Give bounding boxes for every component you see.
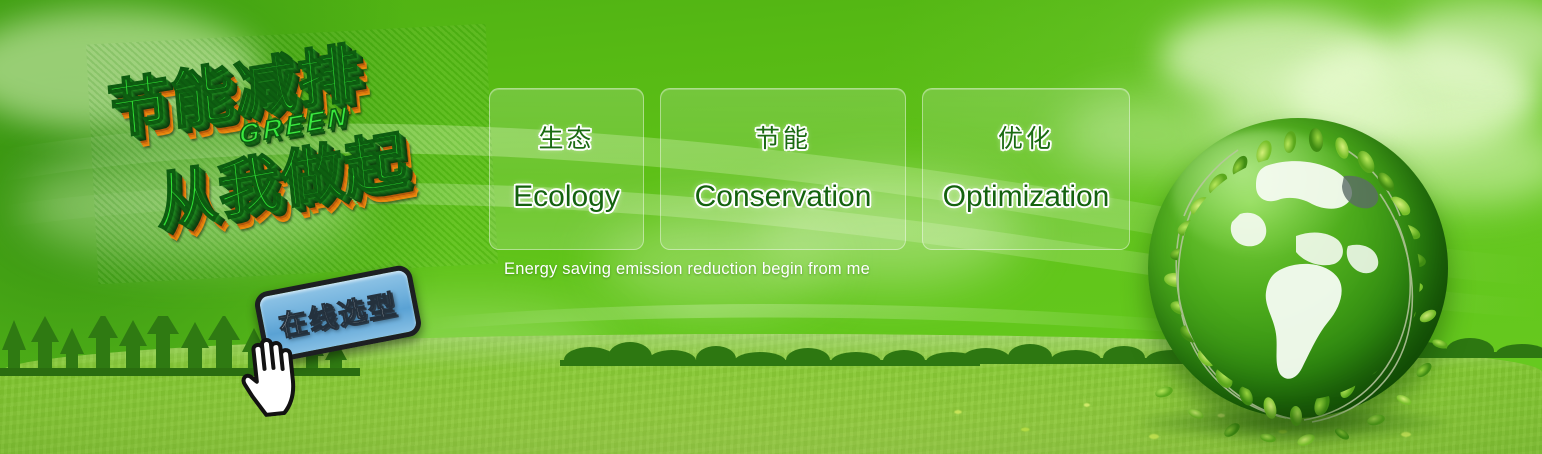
green-energy-banner: 节能减排 GREEN 从我做起 在线选型 — [0, 0, 1542, 454]
card-optimization-en: Optimization — [943, 182, 1110, 212]
card-ecology[interactable]: 生态 Ecology — [489, 88, 644, 250]
globe-ground-shadow — [1138, 406, 1448, 440]
card-optimization-cn: 优化 — [998, 127, 1054, 152]
card-ecology-cn: 生态 — [538, 127, 594, 152]
online-selection-label: 在线选型 — [275, 283, 400, 345]
banner-tagline: Energy saving emission reduction begin f… — [504, 260, 870, 279]
card-optimization[interactable]: 优化 Optimization — [922, 88, 1130, 250]
earth-globe — [1128, 108, 1468, 448]
card-conservation[interactable]: 节能 Conservation — [660, 88, 906, 250]
card-ecology-en: Ecology — [513, 182, 620, 212]
globe-continents — [1148, 118, 1448, 418]
card-conservation-en: Conservation — [695, 182, 872, 212]
headline-3d-art: 节能减排 GREEN 从我做起 — [86, 24, 498, 285]
globe-sphere — [1148, 118, 1448, 418]
card-conservation-cn: 节能 — [755, 127, 811, 152]
feature-card-list: 生态 Ecology 节能 Conservation 优化 Optimizati… — [489, 88, 1130, 250]
